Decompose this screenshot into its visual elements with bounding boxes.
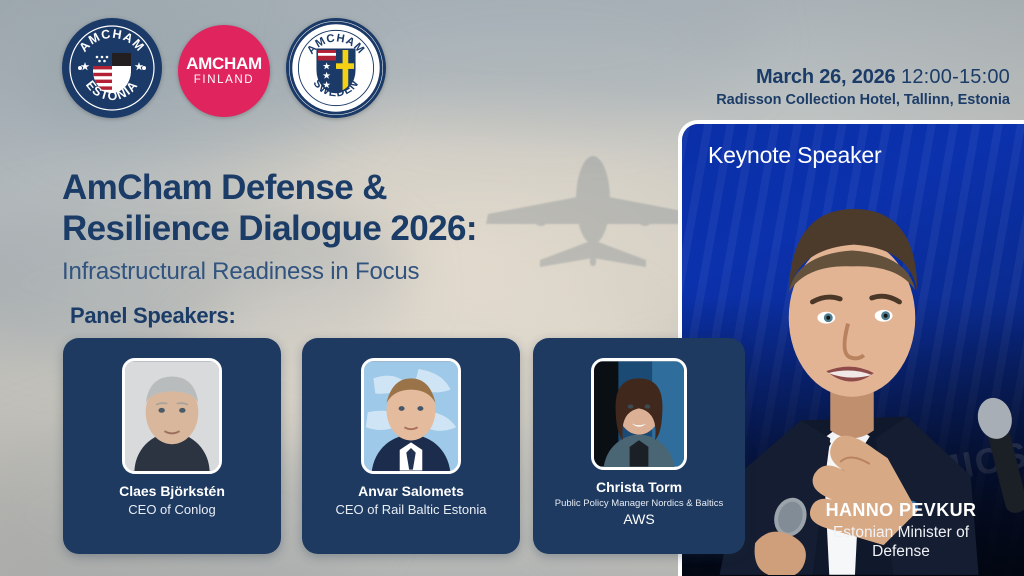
keynote-role-line-1: Estonian Minister of bbox=[833, 524, 969, 541]
event-venue: Radisson Collection Hotel, Tallinn, Esto… bbox=[716, 92, 1010, 108]
logo-amcham-finland: AMCHAM FINLAND bbox=[178, 25, 270, 117]
title-line-1: AmCham Defense & bbox=[62, 168, 387, 207]
event-poster: AMCHAM ESTONIA bbox=[0, 0, 1024, 576]
speaker-name: Anvar Salomets bbox=[335, 483, 486, 500]
speaker-org: AWS bbox=[555, 511, 723, 529]
speaker-card-christa-torm: Christa Torm Public Policy Manager Nordi… bbox=[533, 338, 745, 554]
logo-row: AMCHAM ESTONIA bbox=[62, 18, 386, 123]
page-subtitle: Infrastructural Readiness in Focus bbox=[62, 258, 477, 287]
logo-finland-line1: AMCHAM bbox=[186, 55, 262, 72]
title-line-2: Resilience Dialogue 2026: bbox=[62, 209, 477, 248]
avatar bbox=[591, 358, 687, 470]
speaker-name: Christa Torm bbox=[555, 479, 723, 496]
keynote-role-line-2: Defense bbox=[872, 543, 930, 560]
panel-speakers-heading: Panel Speakers: bbox=[70, 303, 236, 329]
speaker-role: CEO of Rail Baltic Estonia bbox=[335, 502, 486, 518]
speaker-card-claes-bjorksten: Claes Björkstén CEO of Conlog bbox=[63, 338, 281, 554]
logo-amcham-sweden: AMCHAM SWEDEN bbox=[286, 18, 386, 123]
airplane-silhouette-icon bbox=[478, 148, 708, 283]
page-title: AmCham Defense & Resilience Dialogue 202… bbox=[62, 168, 477, 287]
event-time: 12:00-15:00 bbox=[901, 66, 1010, 88]
event-date-block: March 26, 2026 12:00-15:00 Radisson Coll… bbox=[716, 66, 1010, 108]
keynote-speaker-name: HANNO PEVKUR bbox=[778, 500, 1024, 521]
speaker-role: CEO of Conlog bbox=[119, 502, 225, 518]
speaker-card-anvar-salomets: Anvar Salomets CEO of Rail Baltic Estoni… bbox=[302, 338, 520, 554]
speaker-role: Public Policy Manager Nordics & Baltics bbox=[555, 498, 723, 510]
avatar bbox=[361, 358, 461, 474]
logo-finland-line2: FINLAND bbox=[194, 75, 254, 87]
speaker-name: Claes Björkstén bbox=[119, 483, 225, 500]
keynote-label: Keynote Speaker bbox=[708, 142, 881, 169]
avatar bbox=[122, 358, 222, 474]
event-date: March 26, 2026 bbox=[756, 66, 896, 88]
logo-amcham-estonia: AMCHAM ESTONIA bbox=[62, 18, 162, 123]
